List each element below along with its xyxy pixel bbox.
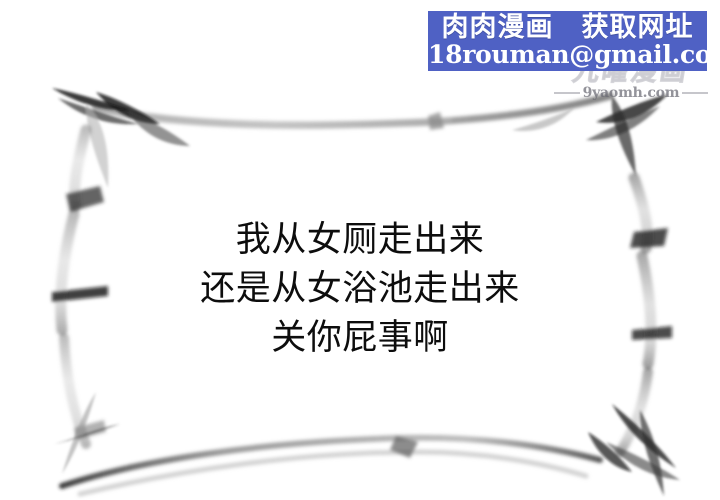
dialogue-line-1: 我从女厕走出来 <box>0 216 720 265</box>
dialogue-line-3: 关你屁事啊 <box>0 314 720 363</box>
promo-banner-email: 18rouman@gmail.com <box>428 41 707 69</box>
bubble-edge-bottom <box>62 436 600 494</box>
bubble-corner-top-right <box>512 94 668 176</box>
promo-banner-title: 肉肉漫画 获取网址 <box>428 13 707 43</box>
promo-banner[interactable]: 肉肉漫画 获取网址 18rouman@gmail.com <box>428 11 707 71</box>
dialogue-text: 我从女厕走出来 还是从女浴池走出来 关你屁事啊 <box>0 216 720 363</box>
dialogue-line-2: 还是从女浴池走出来 <box>0 265 720 314</box>
comic-panel: 我从女厕走出来 还是从女浴池走出来 关你屁事啊 九曜漫画 9yaomh.com … <box>0 0 720 500</box>
